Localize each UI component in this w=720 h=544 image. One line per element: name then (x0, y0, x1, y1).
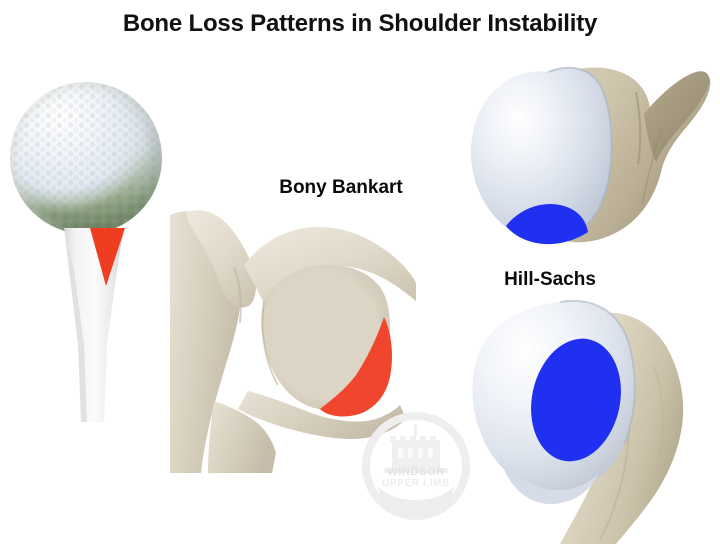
figure-canvas: Bone Loss Patterns in Shoulder Instabili… (0, 0, 720, 544)
panel-humeral-head-superior: View from above (440, 58, 720, 273)
golf-ball (10, 82, 162, 234)
page-title: Bone Loss Patterns in Shoulder Instabili… (0, 10, 720, 38)
golf-tee (60, 226, 128, 426)
humeral-head-superior-illustration (440, 58, 720, 273)
golf-ball-edge-shading (10, 82, 162, 234)
label-bony-bankart: Bony Bankart (256, 178, 426, 199)
panel-scapula-glenoid (168, 205, 418, 475)
scapula-illustration (168, 205, 418, 475)
label-hill-sachs: Hill-Sachs (470, 270, 630, 291)
greater-tuberosity (644, 71, 709, 162)
panel-humeral-head-posterior: Posterior view (440, 292, 720, 544)
humeral-head-posterior-illustration (440, 292, 720, 544)
